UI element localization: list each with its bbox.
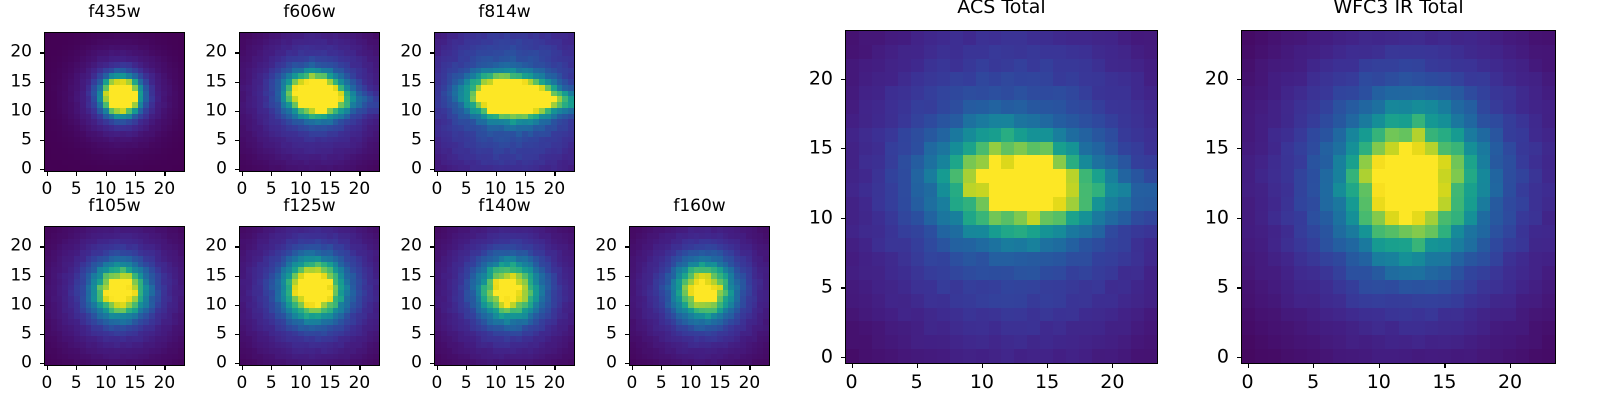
- x-tick-label: 15: [1432, 373, 1456, 392]
- heatmap-image: [435, 227, 574, 365]
- plot-area: [239, 226, 380, 366]
- x-tick-mark: [1248, 364, 1249, 368]
- x-tick-mark: [720, 366, 721, 370]
- y-tick-label: 0: [374, 355, 422, 372]
- x-tick-label: 0: [1242, 373, 1254, 392]
- y-tick-mark: [1237, 79, 1241, 80]
- y-tick-label: 0: [0, 161, 32, 178]
- x-tick-mark: [1444, 364, 1445, 368]
- x-tick-label: 0: [42, 181, 53, 198]
- y-tick-label: 10: [1181, 208, 1229, 227]
- heatmap-image: [435, 33, 574, 171]
- x-tick-mark: [47, 172, 48, 176]
- y-tick-mark: [625, 276, 629, 277]
- x-tick-label: 20: [349, 181, 371, 198]
- x-tick-label: 0: [627, 375, 638, 392]
- heatmap-image: [240, 227, 379, 365]
- y-tick-mark: [841, 287, 845, 288]
- y-tick-label: 0: [785, 348, 833, 367]
- y-tick-mark: [430, 276, 434, 277]
- y-tick-label: 20: [0, 44, 32, 61]
- x-tick-mark: [301, 366, 302, 370]
- y-tick-mark: [430, 246, 434, 247]
- y-tick-label: 15: [569, 267, 617, 284]
- plot-area: [239, 32, 380, 172]
- x-tick-label: 0: [845, 373, 857, 392]
- y-tick-label: 5: [0, 325, 32, 342]
- panel-title: ACS Total: [845, 0, 1158, 17]
- y-tick-label: 15: [0, 73, 32, 90]
- y-tick-mark: [235, 246, 239, 247]
- y-tick-mark: [40, 52, 44, 53]
- x-tick-label: 5: [71, 375, 82, 392]
- y-tick-label: 10: [0, 102, 32, 119]
- x-tick-label: 10: [680, 375, 702, 392]
- panel-title: f105w: [44, 198, 185, 215]
- plot-area: [434, 226, 575, 366]
- x-tick-label: 5: [266, 181, 277, 198]
- y-tick-label: 10: [179, 296, 227, 313]
- y-tick-label: 20: [0, 238, 32, 255]
- panel-title: f125w: [239, 198, 380, 215]
- x-tick-mark: [852, 364, 853, 368]
- y-tick-mark: [625, 334, 629, 335]
- y-tick-mark: [40, 363, 44, 364]
- x-tick-mark: [691, 366, 692, 370]
- plot-area: [434, 32, 575, 172]
- y-tick-mark: [40, 276, 44, 277]
- x-tick-label: 20: [1100, 373, 1124, 392]
- x-tick-mark: [466, 366, 467, 370]
- x-tick-label: 0: [42, 375, 53, 392]
- x-tick-mark: [330, 366, 331, 370]
- y-tick-label: 15: [0, 267, 32, 284]
- x-tick-mark: [47, 366, 48, 370]
- x-tick-mark: [466, 172, 467, 176]
- x-tick-mark: [496, 366, 497, 370]
- y-tick-mark: [40, 246, 44, 247]
- x-tick-mark: [661, 366, 662, 370]
- x-tick-mark: [1112, 364, 1113, 368]
- y-tick-label: 5: [0, 131, 32, 148]
- plot-area: [44, 32, 185, 172]
- x-tick-mark: [135, 366, 136, 370]
- y-tick-label: 15: [374, 267, 422, 284]
- x-tick-label: 10: [1367, 373, 1391, 392]
- x-tick-mark: [359, 172, 360, 176]
- y-tick-mark: [430, 363, 434, 364]
- x-tick-label: 5: [656, 375, 667, 392]
- x-tick-mark: [1047, 364, 1048, 368]
- panel-wfc3-ir-total: WFC3 IR Total0055101015152020: [1181, 0, 1576, 404]
- y-tick-label: 15: [1181, 139, 1229, 158]
- plot-area: [1241, 30, 1556, 364]
- x-tick-label: 0: [237, 375, 248, 392]
- y-tick-label: 20: [179, 44, 227, 61]
- y-tick-label: 10: [374, 102, 422, 119]
- y-tick-label: 15: [785, 139, 833, 158]
- panel-f435w: f435w0055101015152020: [0, 4, 205, 212]
- y-tick-mark: [430, 334, 434, 335]
- y-tick-mark: [235, 52, 239, 53]
- y-tick-mark: [40, 140, 44, 141]
- panel-title: f160w: [629, 198, 770, 215]
- plot-area: [44, 226, 185, 366]
- x-tick-label: 20: [154, 375, 176, 392]
- y-tick-label: 20: [1181, 69, 1229, 88]
- x-tick-mark: [525, 172, 526, 176]
- x-tick-mark: [917, 364, 918, 368]
- y-tick-label: 10: [785, 208, 833, 227]
- x-tick-label: 10: [290, 375, 312, 392]
- y-tick-mark: [430, 169, 434, 170]
- x-tick-mark: [437, 172, 438, 176]
- y-tick-label: 15: [179, 73, 227, 90]
- panel-title: f814w: [434, 4, 575, 21]
- y-tick-label: 0: [179, 161, 227, 178]
- y-tick-mark: [430, 82, 434, 83]
- plot-area: [629, 226, 770, 366]
- y-tick-label: 5: [179, 325, 227, 342]
- x-tick-mark: [271, 366, 272, 370]
- y-tick-mark: [40, 169, 44, 170]
- y-tick-mark: [430, 140, 434, 141]
- x-tick-label: 0: [432, 181, 443, 198]
- plot-area: [845, 30, 1158, 364]
- y-tick-label: 0: [0, 355, 32, 372]
- x-tick-label: 15: [709, 375, 731, 392]
- x-tick-label: 15: [514, 375, 536, 392]
- heatmap-image: [630, 227, 769, 365]
- x-tick-mark: [496, 172, 497, 176]
- x-tick-label: 5: [1307, 373, 1319, 392]
- panel-f606w: f606w0055101015152020: [179, 4, 400, 212]
- x-tick-label: 0: [432, 375, 443, 392]
- x-tick-mark: [164, 366, 165, 370]
- y-tick-label: 10: [569, 296, 617, 313]
- panel-acs-total: ACS Total0055101015152020: [785, 0, 1178, 404]
- x-tick-mark: [106, 172, 107, 176]
- heatmap-image: [1242, 31, 1555, 363]
- x-tick-label: 5: [266, 375, 277, 392]
- y-tick-mark: [235, 334, 239, 335]
- x-tick-mark: [330, 172, 331, 176]
- y-tick-label: 5: [374, 131, 422, 148]
- x-tick-mark: [1379, 364, 1380, 368]
- x-tick-mark: [525, 366, 526, 370]
- y-tick-mark: [235, 305, 239, 306]
- y-tick-mark: [235, 276, 239, 277]
- y-tick-mark: [841, 79, 845, 80]
- x-tick-label: 5: [461, 375, 472, 392]
- x-tick-mark: [632, 366, 633, 370]
- y-tick-label: 0: [179, 355, 227, 372]
- x-tick-mark: [359, 366, 360, 370]
- x-tick-mark: [554, 172, 555, 176]
- y-tick-mark: [841, 357, 845, 358]
- y-tick-label: 20: [785, 69, 833, 88]
- x-tick-label: 20: [739, 375, 761, 392]
- x-tick-label: 10: [970, 373, 994, 392]
- y-tick-label: 0: [569, 355, 617, 372]
- y-tick-mark: [430, 111, 434, 112]
- x-tick-mark: [76, 366, 77, 370]
- y-tick-label: 5: [179, 131, 227, 148]
- panel-f105w: f105w0055101015152020: [0, 198, 205, 406]
- y-tick-label: 10: [179, 102, 227, 119]
- panel-title: f606w: [239, 4, 380, 21]
- x-tick-mark: [242, 172, 243, 176]
- heatmap-image: [240, 33, 379, 171]
- y-tick-mark: [40, 305, 44, 306]
- panel-f160w: f160w0055101015152020: [569, 198, 790, 406]
- x-tick-label: 20: [544, 375, 566, 392]
- panel-f814w: f814w0055101015152020: [374, 4, 595, 212]
- x-tick-label: 15: [319, 375, 341, 392]
- y-tick-mark: [235, 169, 239, 170]
- x-tick-mark: [1313, 364, 1314, 368]
- y-tick-mark: [430, 52, 434, 53]
- y-tick-label: 5: [374, 325, 422, 342]
- x-tick-mark: [242, 366, 243, 370]
- x-tick-mark: [982, 364, 983, 368]
- y-tick-mark: [235, 111, 239, 112]
- x-tick-mark: [106, 366, 107, 370]
- panel-f125w: f125w0055101015152020: [179, 198, 400, 406]
- y-tick-mark: [1237, 287, 1241, 288]
- y-tick-label: 20: [179, 238, 227, 255]
- x-tick-label: 20: [154, 181, 176, 198]
- panel-title: f435w: [44, 4, 185, 21]
- heatmap-image: [846, 31, 1157, 363]
- y-tick-label: 5: [785, 278, 833, 297]
- y-tick-mark: [625, 363, 629, 364]
- heatmap-image: [45, 227, 184, 365]
- y-tick-label: 0: [1181, 348, 1229, 367]
- panel-title: f140w: [434, 198, 575, 215]
- panel-f140w: f140w0055101015152020: [374, 198, 595, 406]
- y-tick-mark: [235, 140, 239, 141]
- y-tick-label: 15: [374, 73, 422, 90]
- y-tick-label: 5: [569, 325, 617, 342]
- y-tick-label: 20: [374, 238, 422, 255]
- x-tick-mark: [164, 172, 165, 176]
- x-tick-mark: [749, 366, 750, 370]
- y-tick-label: 0: [374, 161, 422, 178]
- y-tick-mark: [40, 334, 44, 335]
- x-tick-label: 15: [1035, 373, 1059, 392]
- x-tick-label: 5: [71, 181, 82, 198]
- y-tick-label: 20: [374, 44, 422, 61]
- x-tick-label: 20: [544, 181, 566, 198]
- y-tick-label: 20: [569, 238, 617, 255]
- y-tick-mark: [625, 305, 629, 306]
- y-tick-mark: [235, 82, 239, 83]
- x-tick-mark: [76, 172, 77, 176]
- y-tick-mark: [1237, 357, 1241, 358]
- y-tick-mark: [430, 305, 434, 306]
- x-tick-mark: [301, 172, 302, 176]
- x-tick-label: 20: [1498, 373, 1522, 392]
- x-tick-label: 5: [911, 373, 923, 392]
- x-tick-label: 0: [237, 181, 248, 198]
- y-tick-mark: [625, 246, 629, 247]
- x-tick-mark: [135, 172, 136, 176]
- y-tick-label: 5: [1181, 278, 1229, 297]
- y-tick-mark: [1237, 148, 1241, 149]
- multi-band-cutout-figure: f435w0055101015152020f606w00551010151520…: [0, 0, 1600, 400]
- heatmap-image: [45, 33, 184, 171]
- y-tick-mark: [841, 148, 845, 149]
- y-tick-mark: [40, 82, 44, 83]
- y-tick-label: 10: [0, 296, 32, 313]
- x-tick-label: 20: [349, 375, 371, 392]
- x-tick-label: 10: [95, 375, 117, 392]
- y-tick-mark: [40, 111, 44, 112]
- y-tick-label: 10: [374, 296, 422, 313]
- y-tick-mark: [1237, 218, 1241, 219]
- y-tick-mark: [235, 363, 239, 364]
- x-tick-mark: [271, 172, 272, 176]
- x-tick-label: 10: [485, 375, 507, 392]
- y-tick-label: 15: [179, 267, 227, 284]
- x-tick-label: 15: [124, 375, 146, 392]
- x-tick-label: 5: [461, 181, 472, 198]
- panel-title: WFC3 IR Total: [1241, 0, 1556, 17]
- y-tick-mark: [841, 218, 845, 219]
- x-tick-mark: [1510, 364, 1511, 368]
- x-tick-mark: [554, 366, 555, 370]
- x-tick-mark: [437, 366, 438, 370]
